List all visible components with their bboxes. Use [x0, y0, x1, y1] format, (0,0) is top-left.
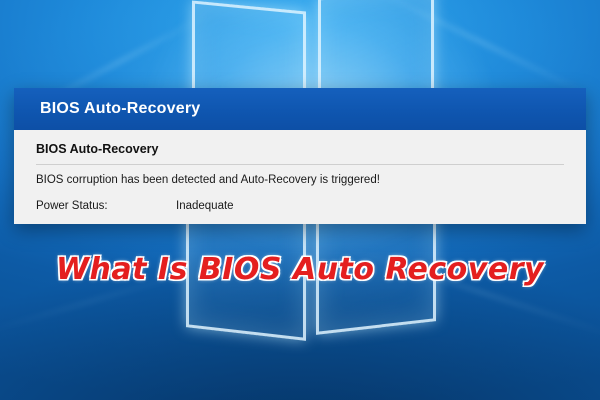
- dialog-heading: BIOS Auto-Recovery: [36, 142, 564, 156]
- dialog-message: BIOS corruption has been detected and Au…: [36, 174, 564, 186]
- power-status-label: Power Status:: [36, 200, 176, 212]
- power-status-value: Inadequate: [176, 200, 234, 212]
- dialog-titlebar: BIOS Auto-Recovery: [14, 88, 586, 130]
- dialog-title: BIOS Auto-Recovery: [40, 100, 200, 118]
- power-status-row: Power Status: Inadequate: [36, 200, 564, 212]
- bios-auto-recovery-dialog: BIOS Auto-Recovery BIOS Auto-Recovery BI…: [14, 88, 586, 224]
- dialog-divider: [36, 164, 564, 165]
- overlay-headline: What Is BIOS Auto Recovery: [0, 252, 600, 287]
- screenshot-stage: BIOS Auto-Recovery BIOS Auto-Recovery BI…: [0, 0, 600, 400]
- dialog-body: BIOS Auto-Recovery BIOS corruption has b…: [14, 130, 586, 212]
